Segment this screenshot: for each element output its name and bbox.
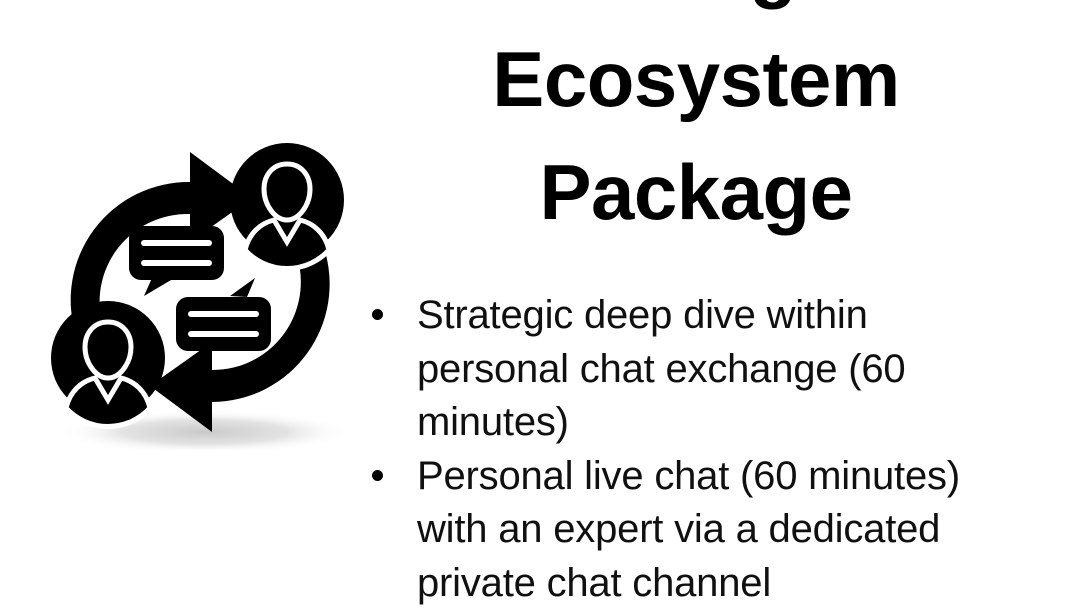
slide-canvas: Strategic Ecosystem Package Strategic de… bbox=[0, 0, 1080, 610]
speech-bubble-lower-right bbox=[176, 278, 271, 351]
two-people-chat-exchange-cycle-icon bbox=[40, 130, 360, 450]
person-avatar-top-right bbox=[230, 143, 344, 268]
title-line-1: Strategic bbox=[360, 0, 1032, 23]
list-item-text: Personal live chat (60 minutes) with an … bbox=[417, 454, 960, 605]
title-line-2: Ecosystem bbox=[360, 23, 1032, 136]
title-line-3: Package bbox=[360, 136, 1032, 249]
page-title: Strategic Ecosystem Package bbox=[360, 0, 1032, 249]
list-item: Strategic deep dive within personal chat… bbox=[360, 289, 1000, 450]
person-avatar-bottom-left bbox=[51, 301, 165, 426]
bullet-dot-icon bbox=[372, 309, 383, 320]
feature-bullet-list: Strategic deep dive within personal chat… bbox=[360, 289, 1000, 610]
bullet-dot-icon bbox=[372, 470, 383, 481]
list-item-text: Strategic deep dive within personal chat… bbox=[417, 293, 905, 444]
speech-bubble-upper-left bbox=[129, 226, 224, 296]
list-item: Personal live chat (60 minutes) with an … bbox=[360, 450, 1000, 610]
